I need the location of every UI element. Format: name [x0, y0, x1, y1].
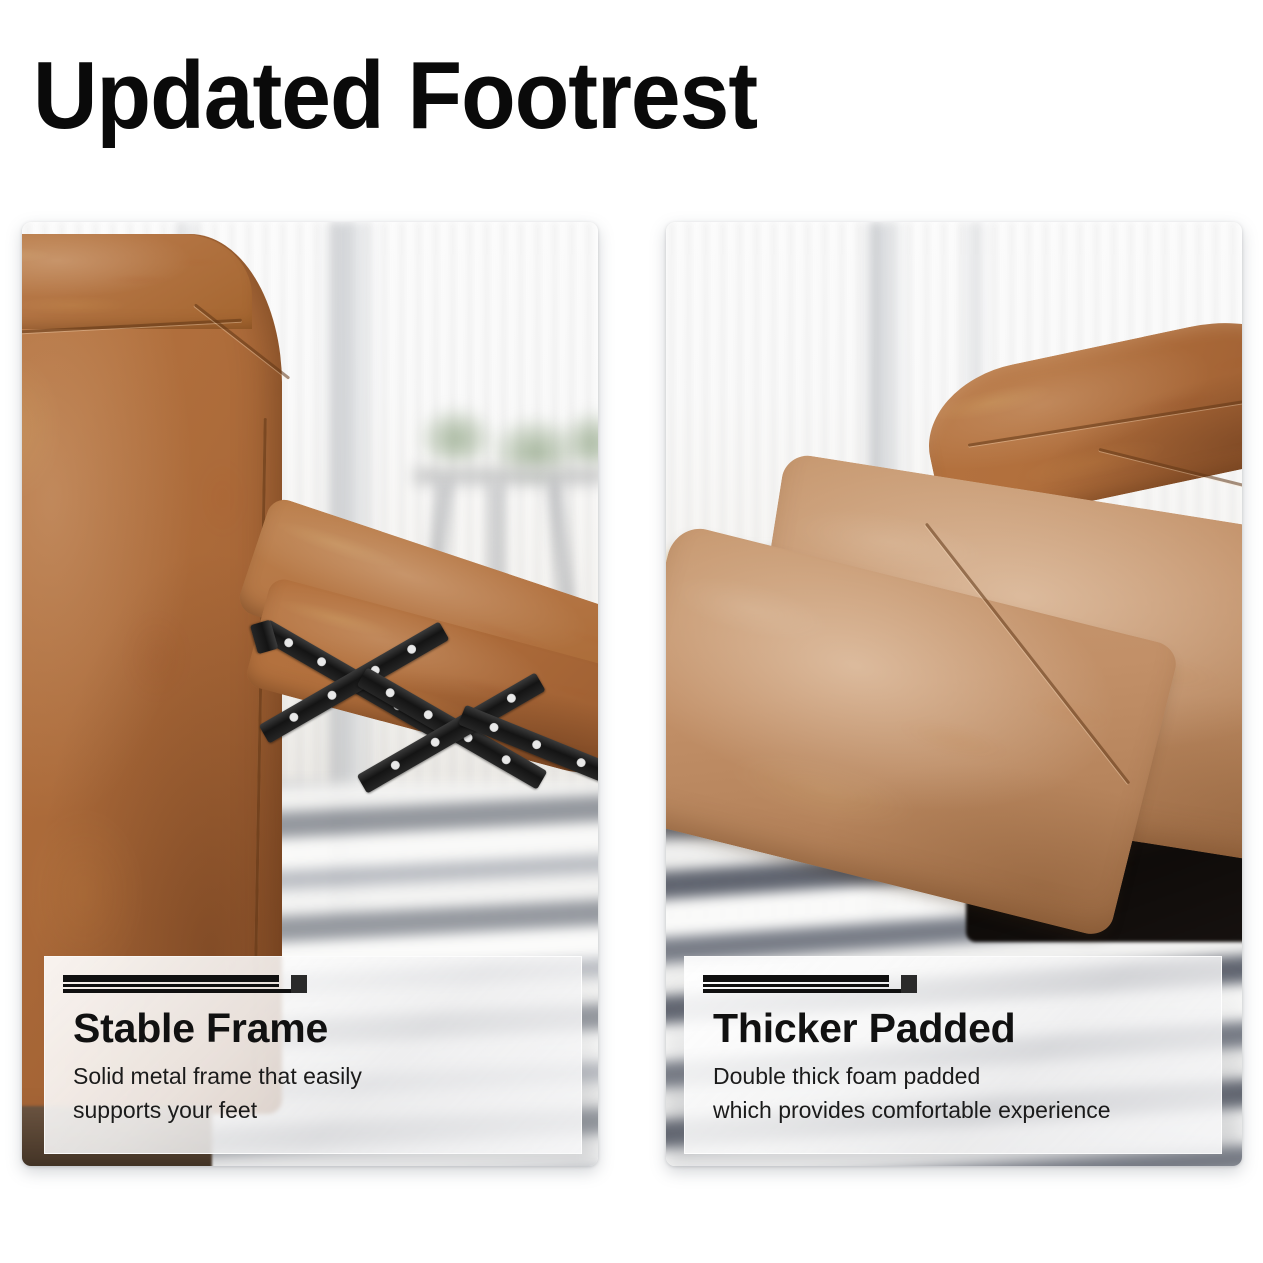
caption-rule-decoration [63, 975, 307, 997]
caption-body: Double thick foam padded which provides … [713, 1059, 1221, 1127]
product-photo-stable-frame: Stable Frame Solid metal frame that easi… [22, 222, 598, 1166]
rule-end-square [291, 975, 307, 993]
feature-panel-thicker-padded: Thicker Padded Double thick foam padded … [666, 222, 1242, 1166]
caption-title: Stable Frame [73, 1003, 581, 1053]
rule-bar-thick [703, 975, 889, 982]
rule-bar-thin [63, 984, 279, 987]
rule-end-square [901, 975, 917, 993]
rule-bar-thick [63, 975, 279, 982]
recliner-headrest [22, 234, 252, 329]
leather-grain [22, 234, 252, 329]
product-photo-thicker-padded: Thicker Padded Double thick foam padded … [666, 222, 1242, 1166]
metal-frame-mechanism [266, 604, 598, 824]
caption-card-thicker-padded: Thicker Padded Double thick foam padded … [684, 956, 1222, 1154]
rule-bar-medium [63, 989, 297, 993]
caption-rule-decoration [703, 975, 917, 997]
caption-card-stable-frame: Stable Frame Solid metal frame that easi… [44, 956, 582, 1154]
rule-bar-thin [703, 984, 889, 987]
caption-title: Thicker Padded [713, 1003, 1221, 1053]
feature-panel-group: Stable Frame Solid metal frame that easi… [0, 0, 1263, 1263]
caption-body: Solid metal frame that easily supports y… [73, 1059, 581, 1127]
plant-prop [420, 408, 492, 464]
feature-panel-stable-frame: Stable Frame Solid metal frame that easi… [22, 222, 598, 1166]
rule-bar-medium [703, 989, 907, 993]
